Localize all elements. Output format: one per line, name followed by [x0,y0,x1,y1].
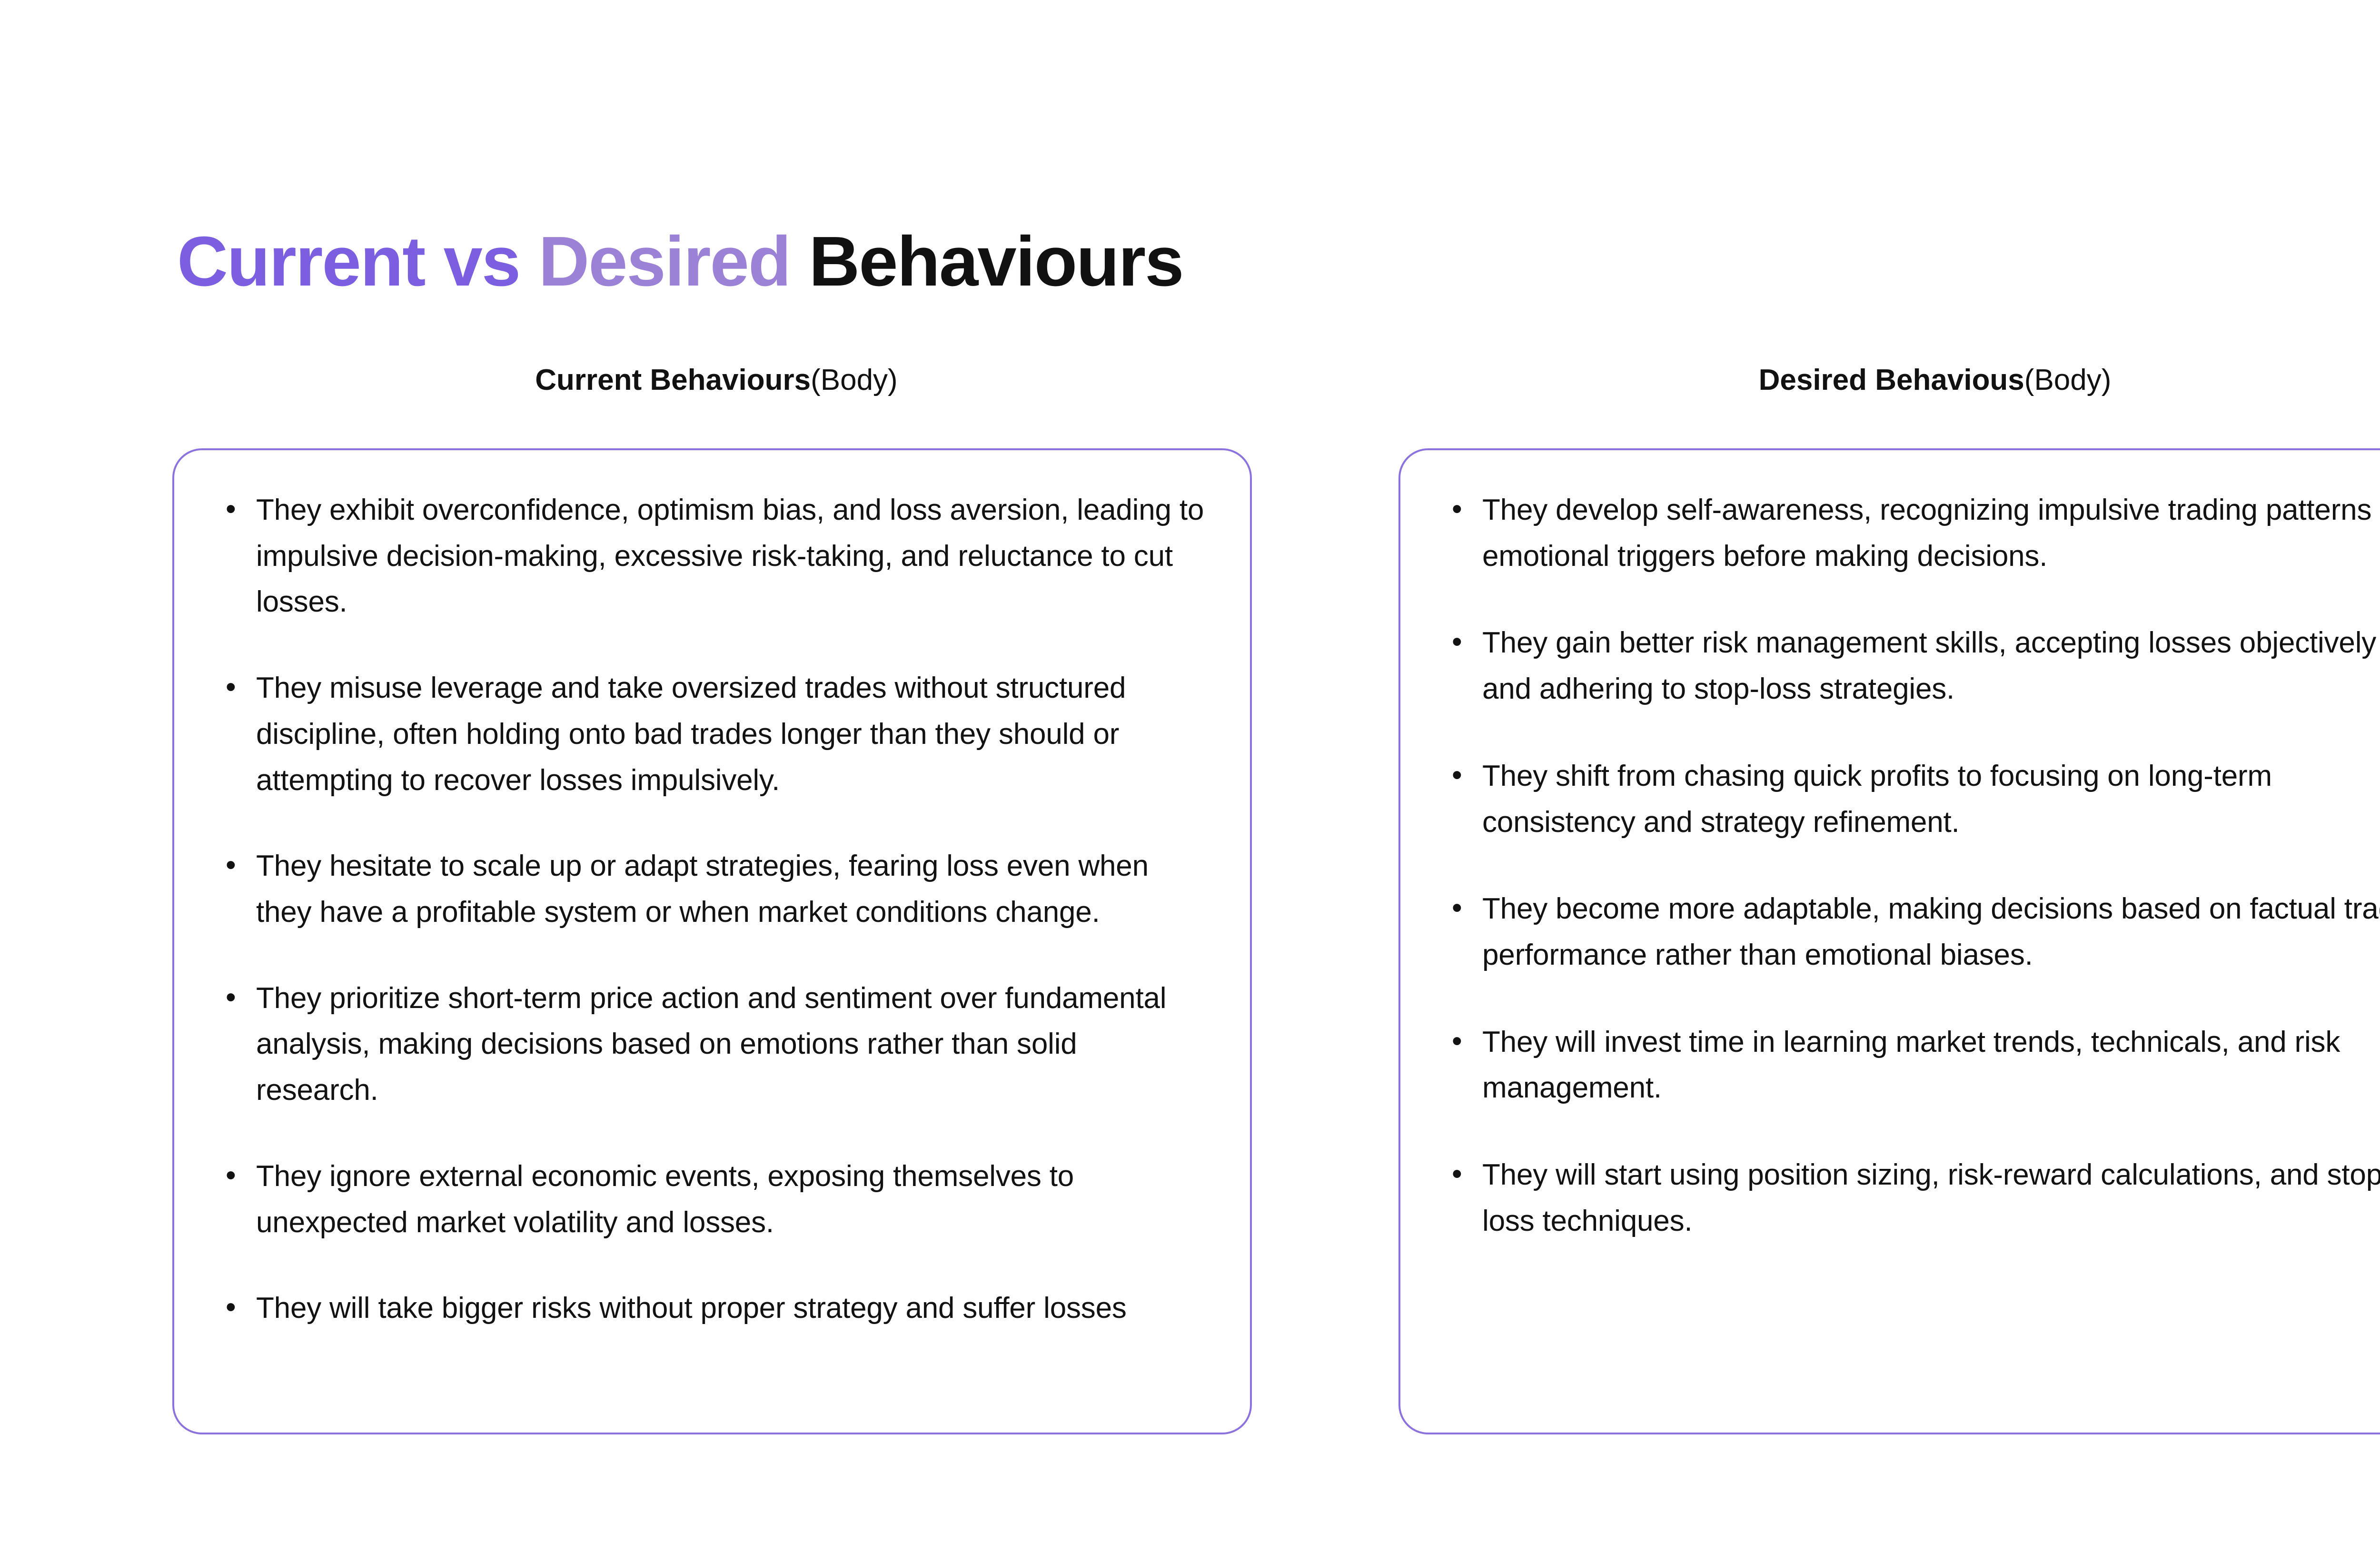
list-item: They will take bigger risks without prop… [217,1285,1207,1332]
desired-behaviours-card: They develop self-awareness, recognizing… [1398,448,2380,1434]
list-item: They ignore external economic events, ex… [217,1154,1207,1245]
current-behaviours-card: They exhibit overconfidence, optimism bi… [172,448,1252,1434]
column-header-desired-strong: Desired Behavious [1759,364,2024,396]
list-item: They shift from chasing quick profits to… [1443,753,2380,845]
list-item: They will start using position sizing, r… [1443,1152,2380,1244]
column-header-current-light: (Body) [811,364,898,396]
page-title: Current vs Desired Behaviours [177,223,1183,301]
page-title-accent-current-vs: Current vs [177,222,538,301]
current-behaviours-list: They exhibit overconfidence, optimism bi… [217,487,1207,1332]
list-item: They will invest time in learning market… [1443,1019,2380,1111]
list-item: They become more adaptable, making decis… [1443,886,2380,978]
list-item: They prioritize short-term price action … [217,976,1207,1114]
column-header-current-strong: Current Behaviours [535,364,811,396]
list-item: They develop self-awareness, recognizing… [1443,487,2380,579]
page-title-plain-behaviours: Behaviours [790,222,1183,301]
list-item: They misuse leverage and take oversized … [217,665,1207,803]
column-header-desired-light: (Body) [2024,364,2112,396]
page-title-accent-desired: Desired [538,222,790,301]
list-item: They exhibit overconfidence, optimism bi… [217,487,1207,625]
desired-behaviours-list: They develop self-awareness, recognizing… [1443,487,2380,1245]
list-item: They hesitate to scale up or adapt strat… [217,843,1207,935]
list-item: They gain better risk management skills,… [1443,620,2380,712]
column-header-current: Current Behaviours(Body) [171,363,1261,398]
column-header-desired: Desired Behavious(Body) [1397,363,2380,398]
